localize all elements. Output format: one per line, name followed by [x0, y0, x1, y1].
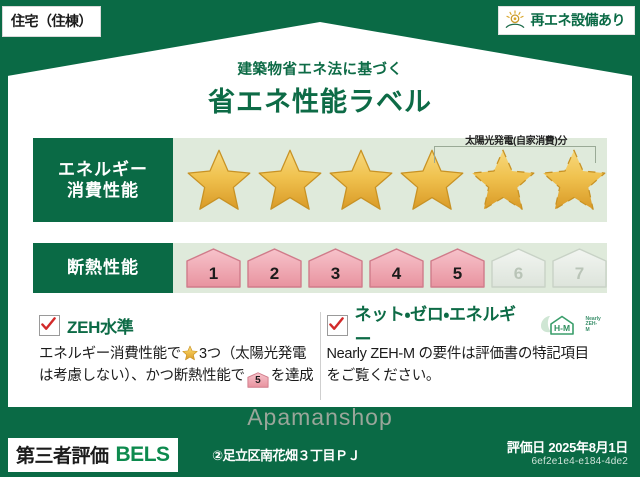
svg-text:H-M: H-M [553, 323, 569, 333]
check-icon [327, 315, 348, 336]
insulation-performance-row: 断熱性能 1 [33, 243, 607, 293]
zeh-m-logo-caption: Nearly ZEH-M [586, 317, 601, 333]
zeh-standard-header: ZEH水準 [39, 312, 314, 338]
insulation-grade-4-number: 4 [392, 264, 401, 284]
zeh-body-post: を達成 [271, 368, 314, 384]
property-address: ②足立区南花畑３丁目ＰＪ [212, 445, 360, 464]
building-type-text: 住宅（住棟） [11, 13, 92, 29]
inline-star-icon [182, 345, 198, 361]
evaluation-id: 6ef2e1e4-e184-4de2 [532, 456, 628, 467]
insulation-grade-1-number: 1 [209, 264, 218, 284]
zeh-m-caption-line2: ZEH-M [586, 321, 598, 332]
label-subtitle: 建築物省エネ法に基づく [0, 58, 640, 79]
solar-annotation-text: 太陽光発電(自家消費)分 [436, 132, 596, 147]
zeh-standard-heading: ZEH水準 [67, 313, 134, 338]
insulation-grade-2-number: 2 [270, 264, 279, 284]
insulation-grade-3-number: 3 [331, 264, 340, 284]
energy-performance-label: 住宅（住棟） 再エネ設備あり 建築物省エネ法に基づく 省エネ性能ラベル [0, 0, 640, 477]
zeh-body-pre: エネルギー消費性能で [39, 346, 181, 362]
insulation-grade-scale: 1 2 3 4 [173, 247, 608, 289]
energy-performance-label: エネルギー 消費性能 [33, 138, 173, 222]
building-type-tag: 住宅（住棟） [2, 6, 101, 37]
inline-grade-number: 5 [247, 372, 269, 389]
energy-label-line1: エネルギー [58, 159, 148, 180]
insulation-performance-body: 1 2 3 4 [173, 243, 608, 293]
insulation-grade-3: 3 [307, 247, 364, 289]
net-zero-energy-column: ネット・ゼロ・エネルギー H-M Nearly ZEH-M Nearly ZEH… [321, 312, 608, 400]
insulation-grade-1: 1 [185, 247, 242, 289]
insulation-grade-7: 7 [551, 247, 608, 289]
zeh-standard-column: ZEH水準 エネルギー消費性能で 3つ（太陽光発電は考慮しない）、かつ断熱性能で… [33, 312, 321, 400]
energy-performance-body: 太陽光発電(自家消費)分 [173, 138, 608, 222]
insulation-grade-5: 5 [429, 247, 486, 289]
energy-performance-row: エネルギー 消費性能 太陽光発電(自家消費)分 [33, 138, 607, 222]
check-icon [39, 315, 60, 336]
watermark: Apamanshop [0, 404, 640, 431]
renewable-energy-badge: 再エネ設備あり [498, 6, 636, 35]
net-zero-energy-body: Nearly ZEH-M の要件は評価書の特記項目をご覧ください。 [327, 343, 602, 388]
label-title: 省エネ性能ラベル [0, 80, 640, 119]
insulation-grade-6: 6 [490, 247, 547, 289]
net-zero-energy-header: ネット・ゼロ・エネルギー H-M Nearly ZEH-M [327, 312, 602, 338]
insulation-label-text: 断熱性能 [67, 257, 139, 278]
bels-certification-badge: 第三者評価 BELS [8, 438, 178, 472]
evaluation-date: 評価日 2025年8月1日 [507, 437, 628, 456]
criteria-columns: ZEH水準 エネルギー消費性能で 3つ（太陽光発電は考慮しない）、かつ断熱性能で… [33, 312, 607, 400]
sun-icon [504, 10, 526, 30]
renewable-energy-text: 再エネ設備あり [531, 10, 626, 30]
solar-annotation-bracket [434, 146, 596, 163]
star-filled-3 [327, 147, 395, 213]
star-filled-1 [185, 147, 253, 213]
insulation-performance-label: 断熱性能 [33, 243, 173, 293]
zeh-standard-body: エネルギー消費性能で 3つ（太陽光発電は考慮しない）、かつ断熱性能で5を達成 [39, 343, 314, 388]
bels-logo-text: BELS [116, 443, 170, 467]
insulation-grade-5-number: 5 [453, 264, 462, 284]
inline-grade-badge: 5 [247, 372, 269, 388]
insulation-grade-7-number: 7 [575, 264, 584, 284]
star-filled-2 [256, 147, 324, 213]
zeh-m-logo-icon: H-M [536, 313, 578, 337]
insulation-grade-4: 4 [368, 247, 425, 289]
energy-label-line2: 消費性能 [67, 180, 139, 201]
insulation-grade-6-number: 6 [514, 264, 523, 284]
third-party-label: 第三者評価 [16, 441, 109, 468]
insulation-grade-2: 2 [246, 247, 303, 289]
label-footer: 第三者評価 BELS ②足立区南花畑３丁目ＰＪ 評価日 2025年8月1日 6e… [0, 432, 640, 477]
